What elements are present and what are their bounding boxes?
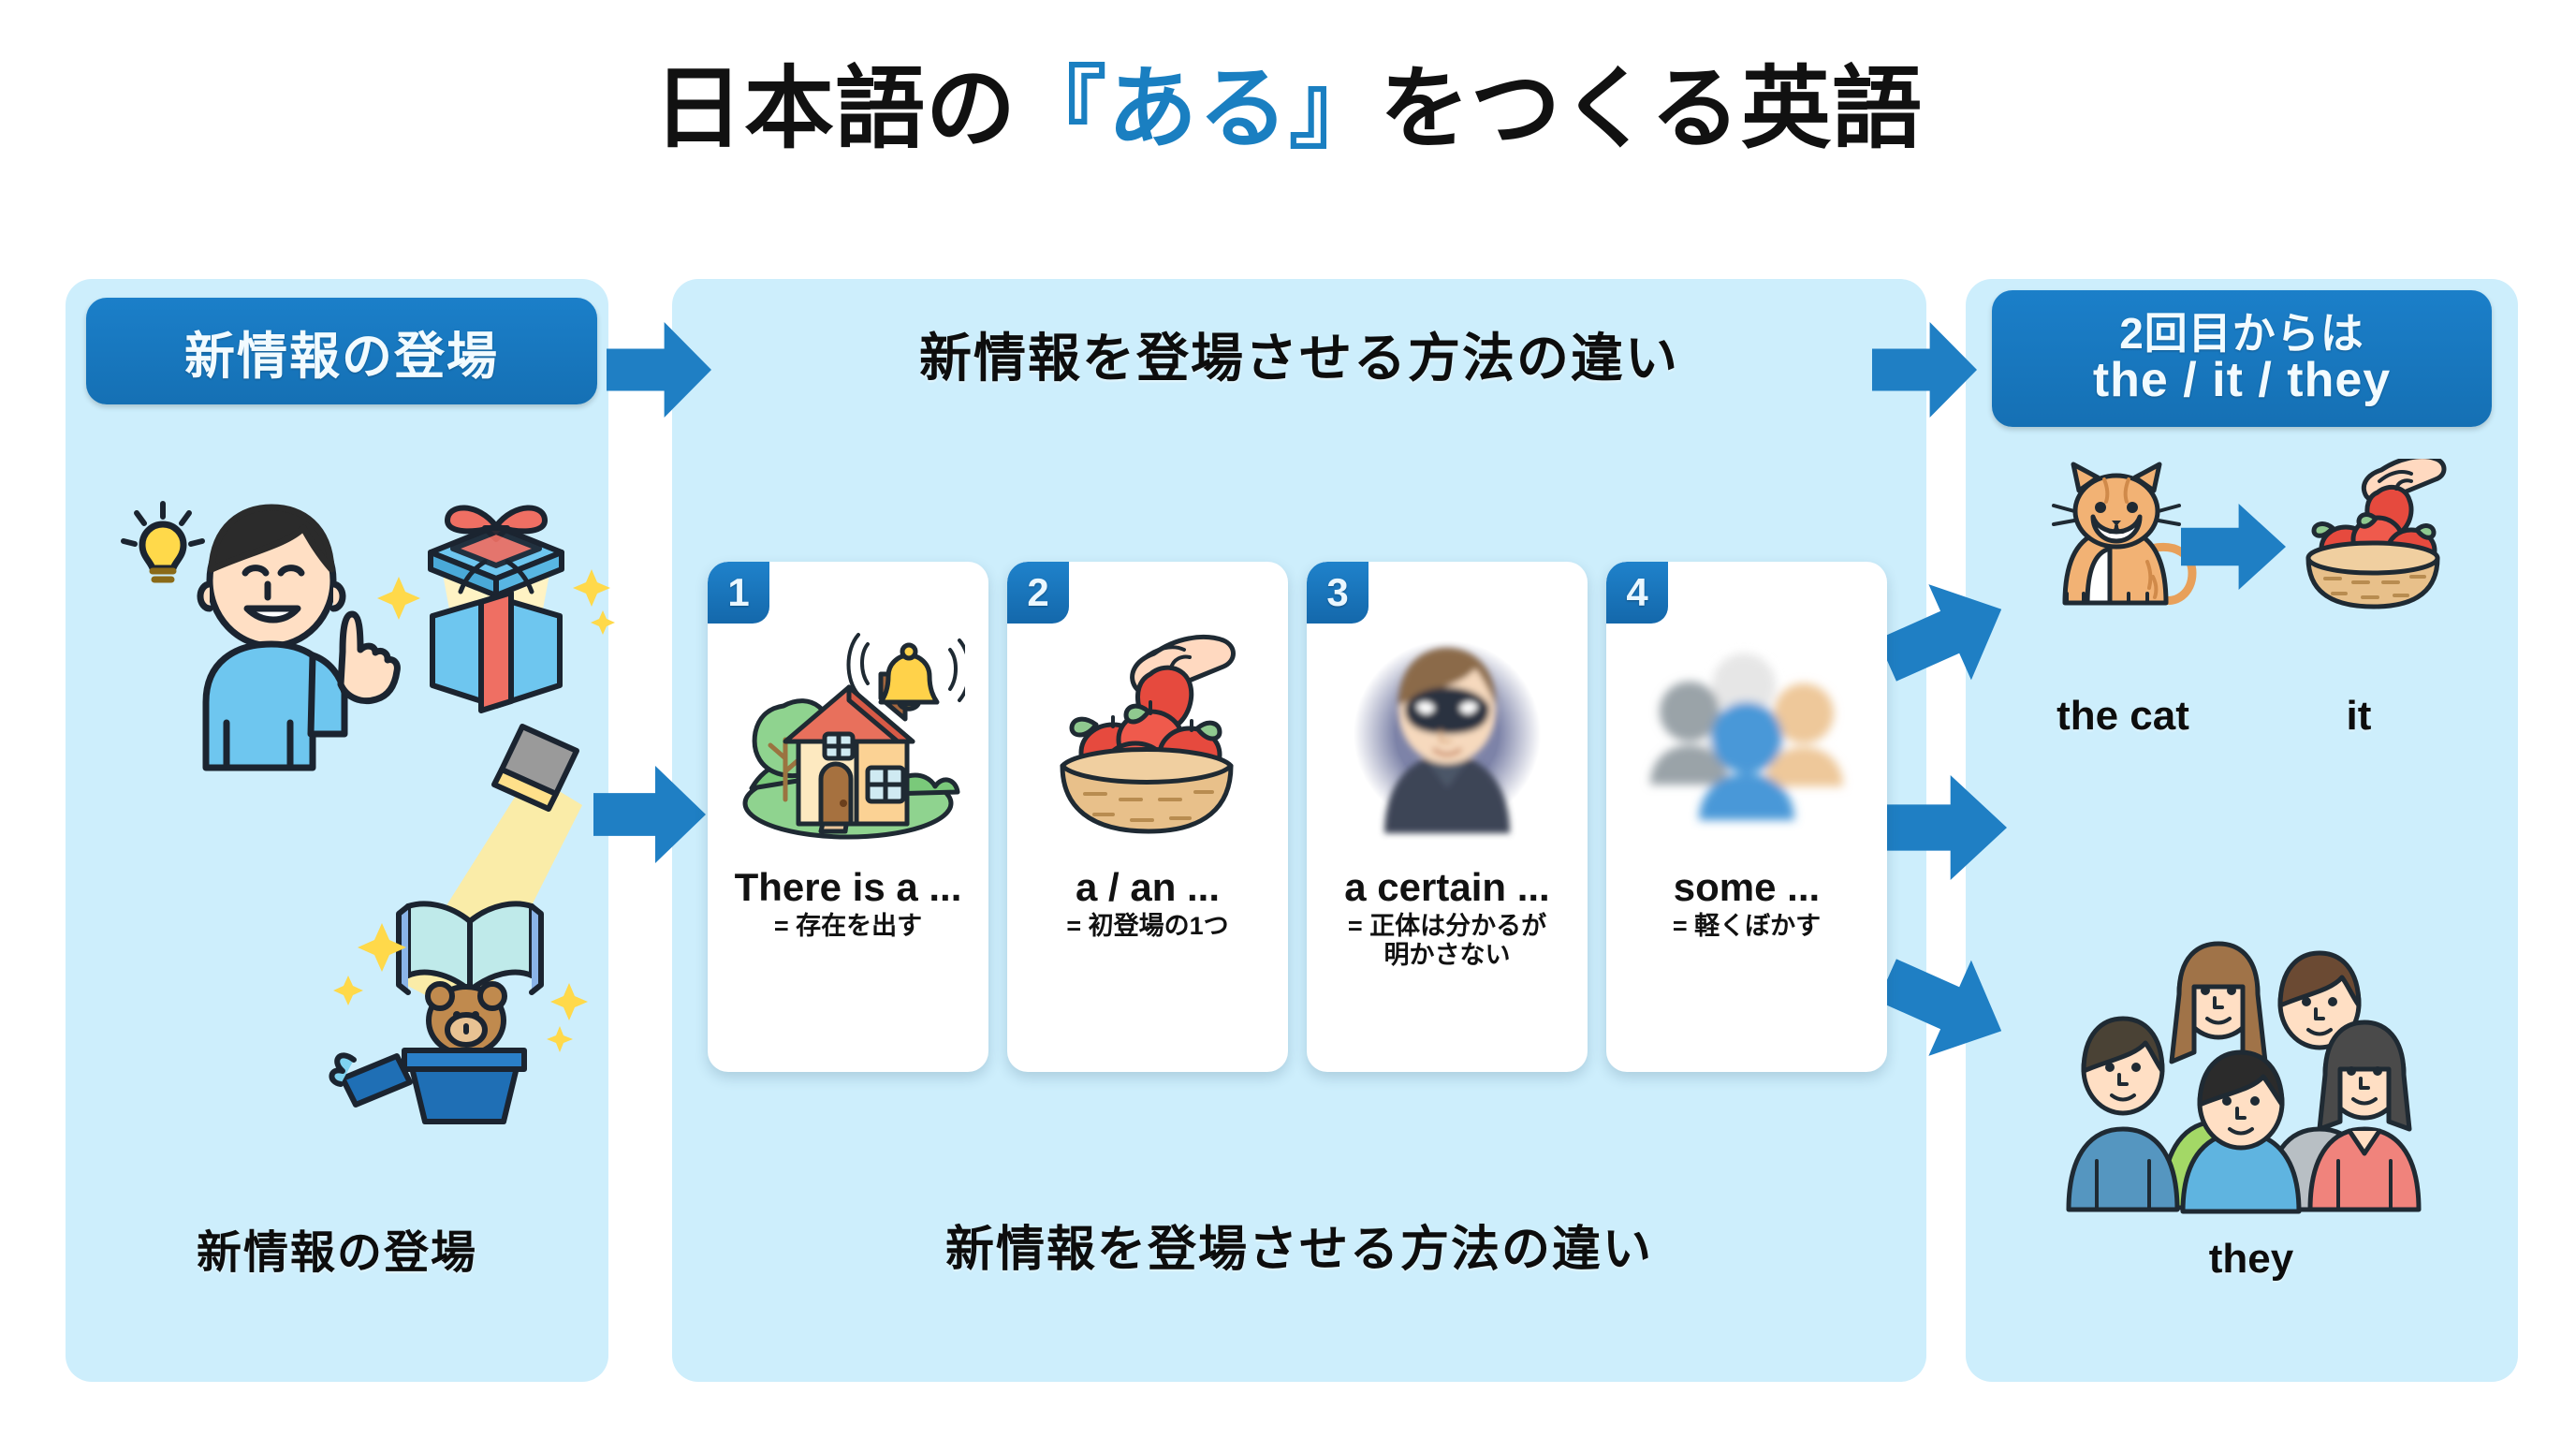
group-of-five-people-icon <box>2050 936 2452 1217</box>
right-item-label-the-cat: the cat <box>2020 693 2226 740</box>
right-panel-header-line2: the / it / they <box>2093 356 2391 405</box>
right-item-label-they: they <box>2050 1236 2452 1283</box>
lightbulb-icon <box>124 504 202 580</box>
card-title: a / an ... <box>1076 865 1220 910</box>
title-part2: をつくる英語 <box>1380 59 1923 159</box>
card-number-badge: 4 <box>1606 562 1668 624</box>
card-subtitle-line2: 明かさない <box>1348 941 1546 970</box>
card-subtitle: = 正体は分かるが 明かさない <box>1342 912 1552 970</box>
card-subtitle: = 初登場の1つ <box>1061 912 1234 941</box>
method-card[interactable]: 3 <box>1307 562 1588 1072</box>
card-title: a certain ... <box>1344 865 1549 910</box>
card-subtitle: = 軽くぼかす <box>1667 912 1826 941</box>
masked-person-icon <box>1330 620 1564 854</box>
title-accent: 『ある』 <box>1017 59 1380 159</box>
card-subtitle-line1: = 正体は分かるが <box>1348 912 1546 941</box>
card-number-badge: 3 <box>1307 562 1368 624</box>
left-panel-header: 新情報の登場 <box>86 298 597 404</box>
middle-panel-header: 新情報を登場させる方法の違い <box>672 316 1926 392</box>
title-part1: 日本語の <box>653 59 1017 159</box>
right-panel-header: 2回目からは the / it / they <box>1992 290 2492 427</box>
left-panel-bottom-caption: 新情報の登場 <box>66 1215 608 1281</box>
method-card-list: 1 <box>708 562 1898 1072</box>
page-title: 日本語の『ある』をつくる英語 <box>0 36 2576 166</box>
right-panel-header-line1: 2回目からは <box>2119 312 2364 356</box>
left-panel-header-label: 新情報の登場 <box>184 315 499 389</box>
right-item-label-it: it <box>2275 693 2443 740</box>
middle-panel-bottom-caption: 新情報を登場させる方法の違い <box>672 1210 1926 1280</box>
card-subtitle: = 存在を出す <box>768 912 928 941</box>
left-panel-bottom-caption-label: 新情報の登場 <box>197 1228 477 1278</box>
card-title: some ... <box>1674 865 1820 910</box>
apple-basket-icon <box>2293 459 2462 613</box>
bell-icon <box>849 635 966 709</box>
gift-open-icon <box>374 479 618 713</box>
method-card[interactable]: 1 <box>708 562 988 1072</box>
infographic-canvas: 日本語の『ある』をつくる英語 新情報の登場 新情報を登場させる方法の違い 2回目… <box>0 0 2576 1438</box>
card-title: There is a ... <box>735 865 962 910</box>
hand-picking-apple-basket-icon <box>1031 620 1265 854</box>
house-with-bell-icon <box>731 620 965 854</box>
card-number-badge: 2 <box>1007 562 1069 624</box>
blurred-group-of-people-icon <box>1630 620 1864 854</box>
teddy-bear-gift-box-icon <box>331 984 524 1122</box>
spotlight-icon <box>309 712 627 1133</box>
method-card[interactable]: 4 some ... = 軽くぼかす <box>1606 562 1887 1072</box>
card-number-badge: 1 <box>708 562 769 624</box>
middle-panel-bottom-caption-label: 新情報を登場させる方法の違い <box>945 1223 1653 1277</box>
right-panel-row-cat-it <box>2012 459 2481 693</box>
middle-panel-header-label: 新情報を登場させる方法の違い <box>919 329 1679 388</box>
method-card[interactable]: 2 <box>1007 562 1288 1072</box>
